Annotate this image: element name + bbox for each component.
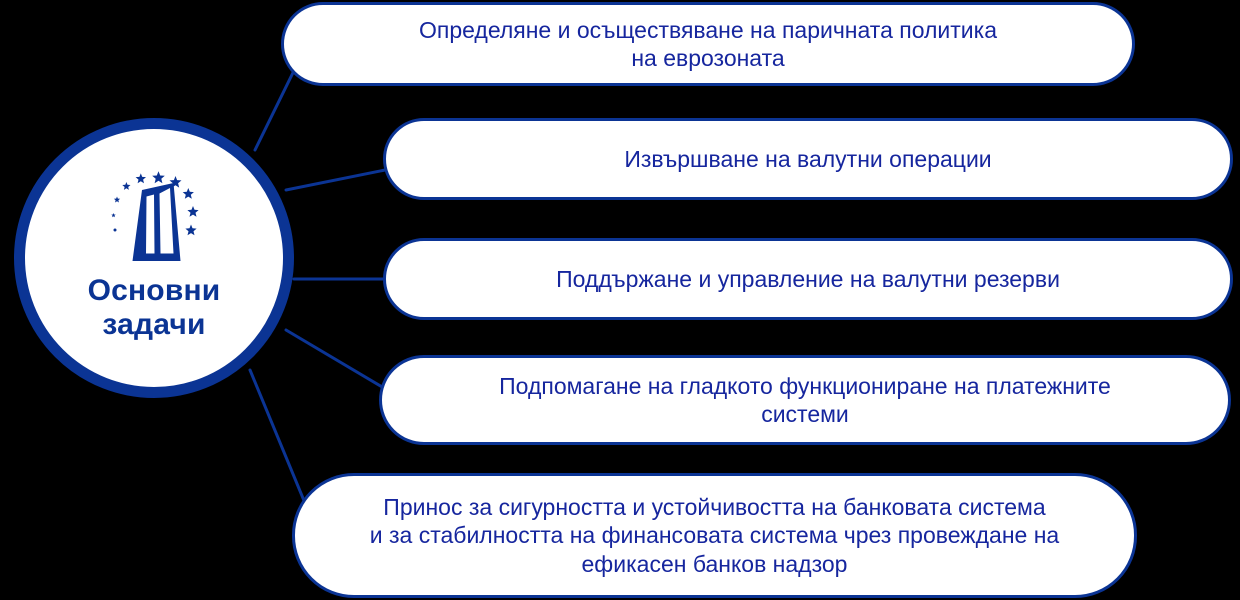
task-pill-monetary-policy[interactable]: Определяне и осъществяване на паричната … xyxy=(281,2,1135,86)
hub-circle[interactable]: Основни задачи xyxy=(14,118,294,398)
task-pill-banking-supervision[interactable]: Принос за сигурността и устойчивостта на… xyxy=(292,473,1137,598)
task-pill-reserves[interactable]: Поддържане и управление на валутни резер… xyxy=(383,238,1233,320)
tower-shape xyxy=(133,183,181,261)
task-label: Определяне и осъществяване на паричната … xyxy=(419,16,997,72)
ecb-building-stars-logo xyxy=(102,168,206,272)
task-label: Подпомагане на гладкото функциониране на… xyxy=(499,372,1111,428)
connector-to-payment-systems xyxy=(286,330,394,394)
connector-to-banking-supervision xyxy=(250,370,312,520)
task-label: Поддържане и управление на валутни резер… xyxy=(556,265,1060,293)
task-label: Извършване на валутни операции xyxy=(624,145,991,173)
task-label: Принос за сигурността и устойчивостта на… xyxy=(370,493,1059,577)
hub-label: Основни задачи xyxy=(88,274,221,341)
task-pill-foreign-exchange[interactable]: Извършване на валутни операции xyxy=(383,118,1233,200)
diagram-canvas: Основни задачи Определяне и осъществяван… xyxy=(0,0,1240,600)
task-pill-payment-systems[interactable]: Подпомагане на гладкото функциониране на… xyxy=(379,355,1231,445)
connector-to-foreign-exchange xyxy=(286,168,395,190)
